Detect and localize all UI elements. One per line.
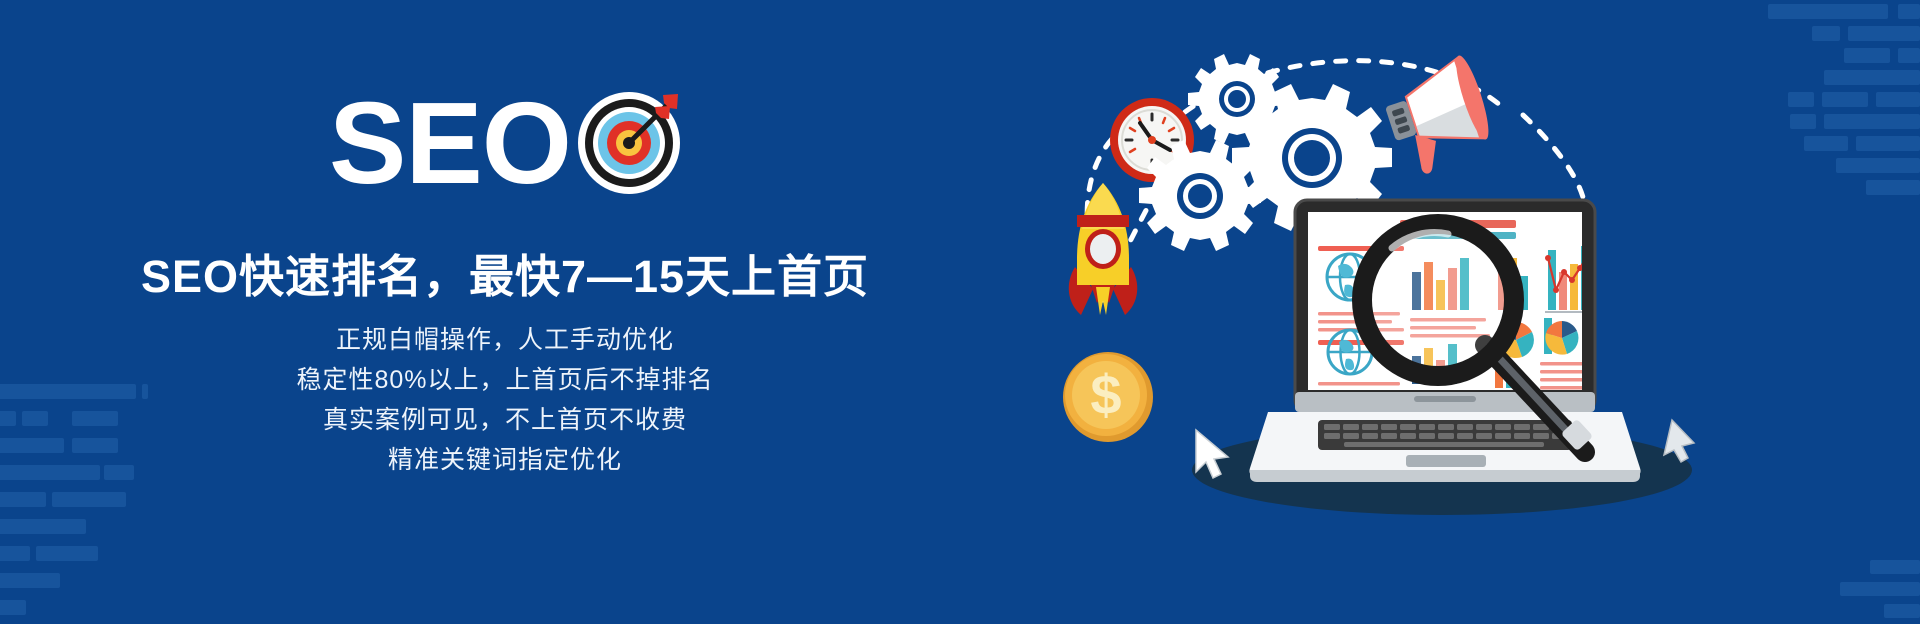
text-column: SEO SEO快速排名，最快7—15天上 xyxy=(0,0,1010,624)
sublines-list: 正规白帽操作，人工手动优化 稳定性80%以上，上首页后不掉排名 真实案例可见，不… xyxy=(0,320,1010,480)
seo-banner: SEO SEO快速排名，最快7—15天上 xyxy=(0,0,1920,624)
seo-logo: SEO xyxy=(0,88,1010,198)
seo-analytics-illustration: 17 $ xyxy=(1000,0,1920,624)
megaphone-icon xyxy=(1377,53,1499,180)
bullseye-target-icon xyxy=(577,91,681,195)
pie-chart-2 xyxy=(1545,321,1578,355)
dollar-coin-icon: $ xyxy=(1063,352,1153,442)
coin-dollar-symbol: $ xyxy=(1090,363,1121,426)
subline-1: 正规白帽操作，人工手动优化 xyxy=(0,320,1010,360)
subline-4: 精准关键词指定优化 xyxy=(0,440,1010,480)
subline-3: 真实案例可见，不上首页不收费 xyxy=(0,400,1010,440)
subline-2: 稳定性80%以上，上首页后不掉排名 xyxy=(0,360,1010,400)
logo-text: SEO xyxy=(329,91,571,195)
rocket-icon xyxy=(1069,183,1138,315)
page-title: SEO快速排名，最快7—15天上首页 xyxy=(0,240,1010,305)
